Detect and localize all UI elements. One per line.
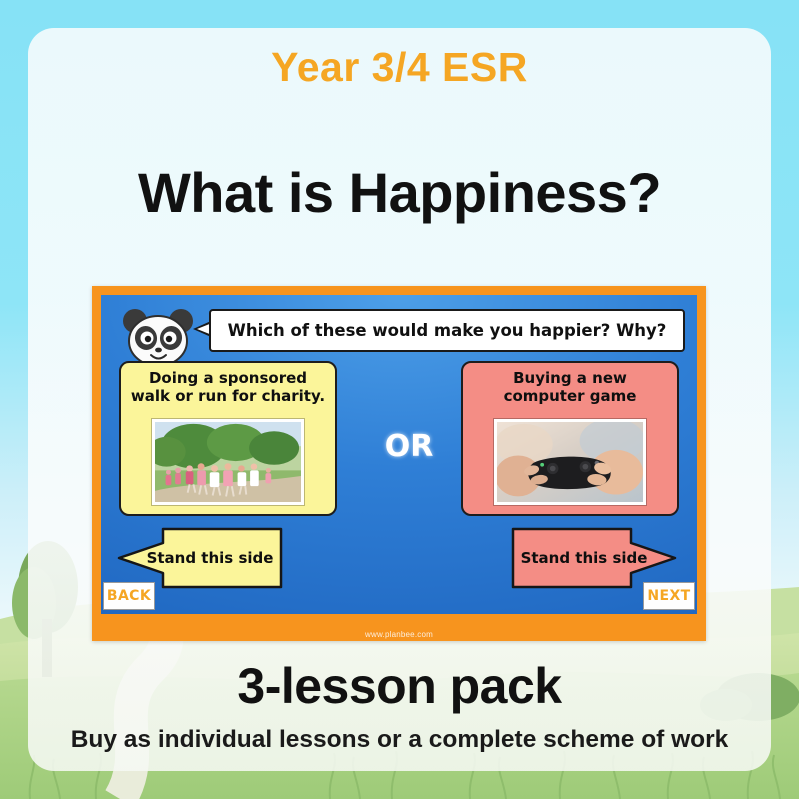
speech-bubble-text: Which of these would make you happier? W… bbox=[228, 321, 667, 340]
option-card-right[interactable]: Buying a new computer game bbox=[461, 361, 679, 516]
slide-preview[interactable]: Which of these would make you happier? W… bbox=[92, 286, 706, 641]
back-button[interactable]: BACK bbox=[103, 582, 155, 610]
page-title: What is Happiness? bbox=[0, 160, 799, 225]
stand-this-side-arrow-right: Stand this side bbox=[511, 527, 679, 589]
pack-title: 3-lesson pack bbox=[0, 657, 799, 715]
stand-this-side-arrow-left: Stand this side bbox=[115, 527, 283, 589]
speech-bubble: Which of these would make you happier? W… bbox=[209, 309, 685, 352]
next-button[interactable]: NEXT bbox=[643, 582, 695, 610]
option-right-title: Buying a new computer game bbox=[463, 370, 677, 405]
year-label: Year 3/4 ESR bbox=[0, 44, 799, 91]
slide-canvas: Which of these would make you happier? W… bbox=[101, 295, 697, 614]
product-preview-canvas: Year 3/4 ESR What is Happiness? bbox=[0, 0, 799, 799]
game-controller-photo bbox=[494, 419, 646, 505]
option-card-left[interactable]: Doing a sponsored walk or run for charit… bbox=[119, 361, 337, 516]
option-left-title: Doing a sponsored walk or run for charit… bbox=[121, 370, 335, 405]
or-divider: OR bbox=[371, 429, 447, 464]
charity-run-photo bbox=[152, 419, 304, 505]
pack-subtitle: Buy as individual lessons or a complete … bbox=[0, 726, 799, 754]
slide-watermark: www.planbee.com bbox=[92, 630, 706, 639]
